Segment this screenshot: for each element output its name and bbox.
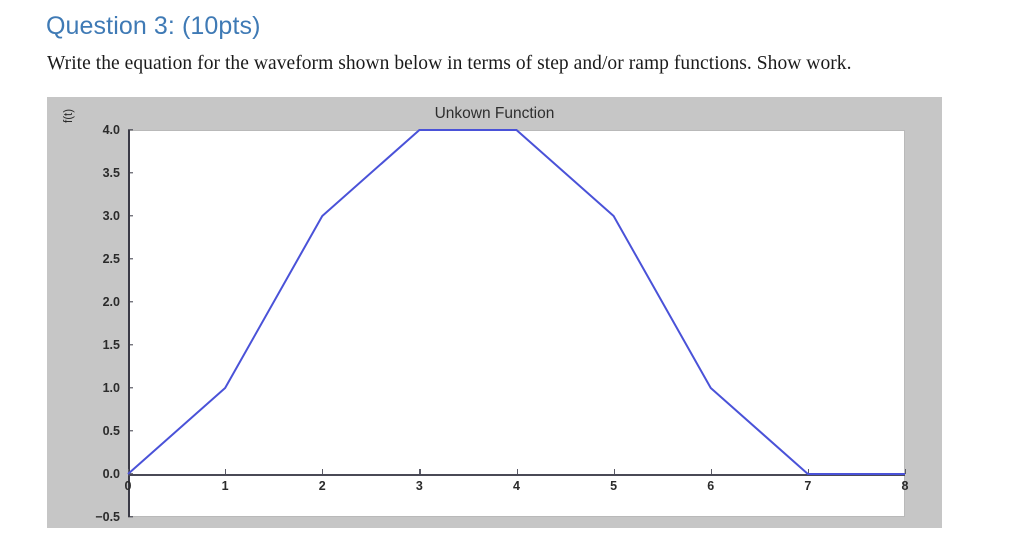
x-tick-mark (905, 469, 906, 474)
question-prompt-text: Write the equation for the waveform show… (47, 53, 852, 75)
y-axis-label: f(t) (63, 109, 75, 123)
plot-area: 012345678 (128, 130, 905, 517)
y-tick-label: −0.5 (76, 510, 120, 524)
y-tick-label: 1.5 (76, 338, 120, 352)
y-tick-label: 2.0 (76, 295, 120, 309)
y-tick-label: 3.0 (76, 209, 120, 223)
y-tick-label: 4.0 (76, 123, 120, 137)
y-tick-label: 0.0 (76, 467, 120, 481)
y-tick-label: 2.5 (76, 252, 120, 266)
chart-title: Unkown Function (47, 105, 942, 123)
y-tick-label: 0.5 (76, 424, 120, 438)
waveform-polyline (128, 130, 905, 474)
figure-panel: Unkown Function f(t) time(s) −0.50.00.51… (47, 97, 942, 528)
page-root: Question 3: (10pts) Write the equation f… (0, 0, 1024, 543)
page-title: Question 3: (10pts) (46, 12, 261, 41)
waveform-series (128, 130, 905, 517)
y-tick-label: 3.5 (76, 166, 120, 180)
y-tick-label: 1.0 (76, 381, 120, 395)
